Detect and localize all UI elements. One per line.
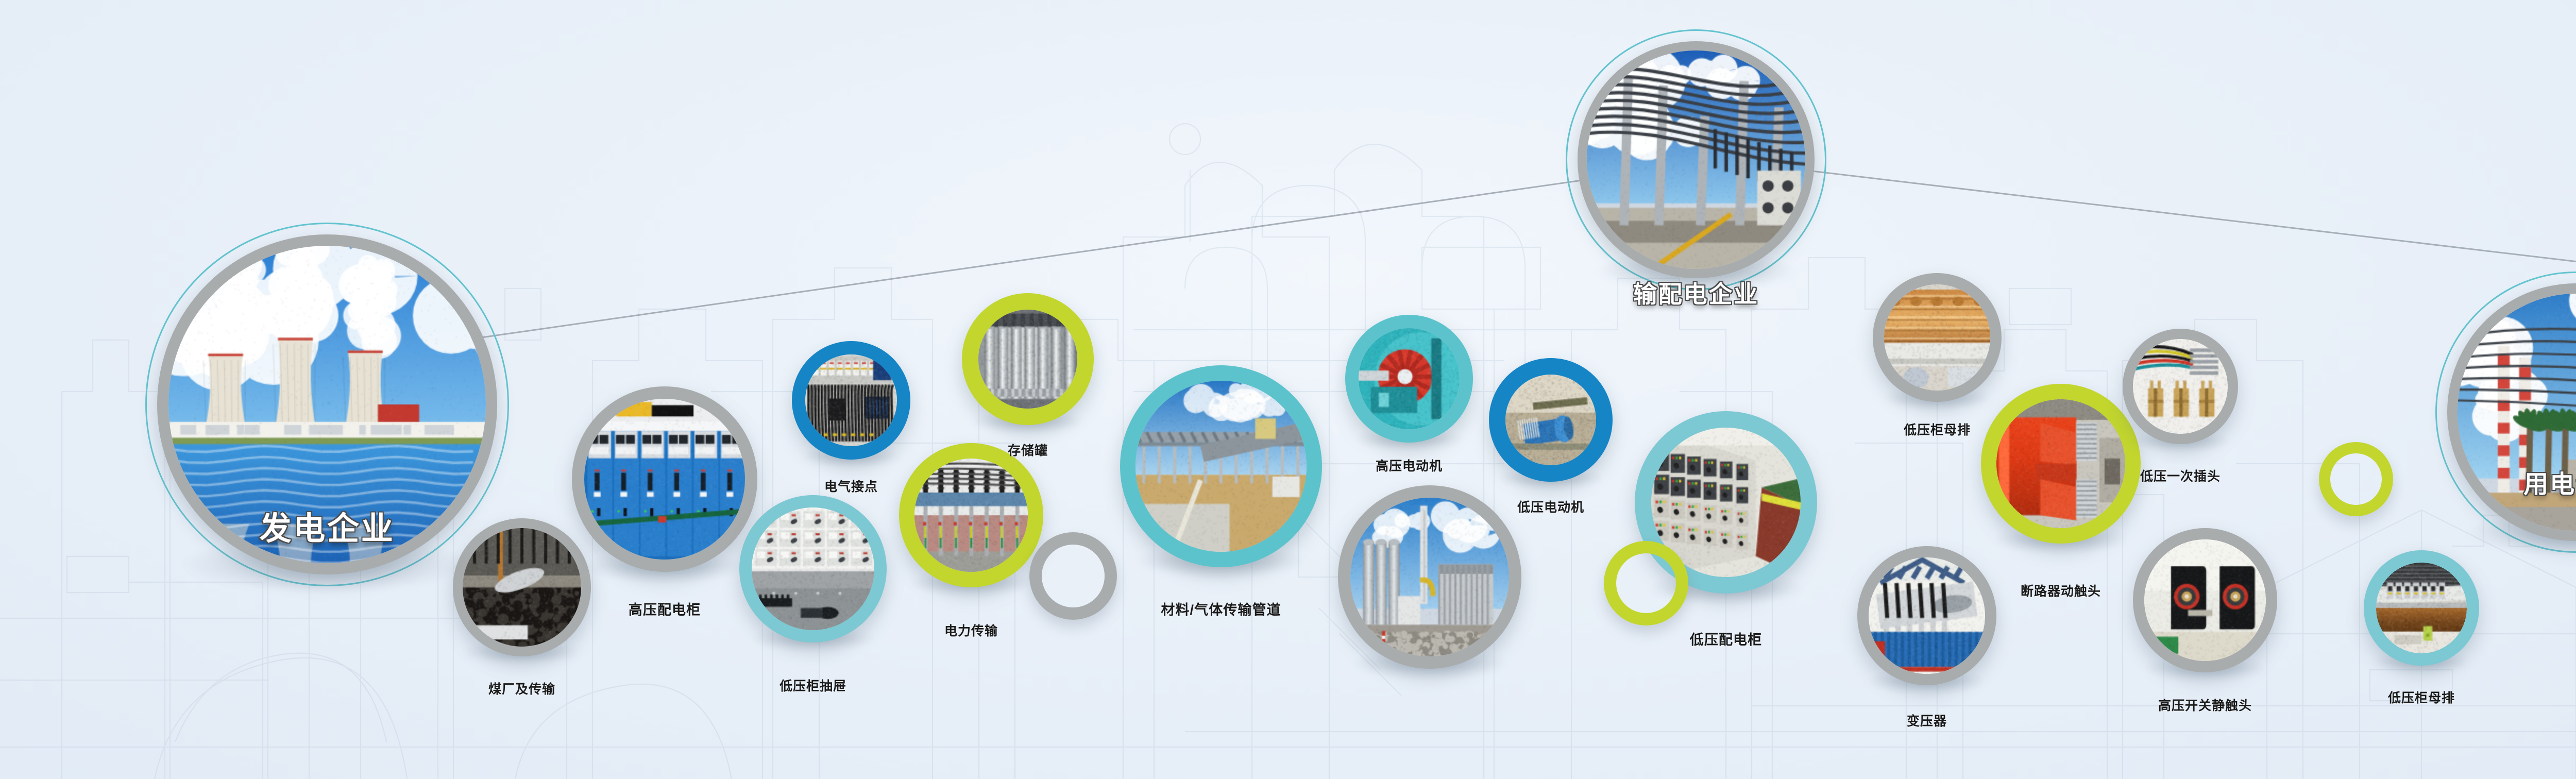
caption-material-gas-pipeline: 材料/气体传输管道 — [1161, 599, 1281, 619]
bubble-chimney-plant[interactable] — [1338, 485, 1521, 669]
caption-hv-switch-static-contact: 高压开关静触头 — [2158, 696, 2252, 714]
bubble-material-gas-pipeline[interactable] — [1120, 365, 1322, 567]
bubble-lv-cabinet-drawer[interactable] — [739, 495, 887, 642]
caption-coal-plant-transport: 煤厂及传输 — [488, 679, 555, 698]
ring-power-consumer — [2447, 283, 2576, 541]
photo-lv-primary-plug — [2133, 339, 2228, 434]
ring-hv-switch-static-contact — [2133, 528, 2277, 672]
photo-lv-cabinet-drawer — [752, 507, 874, 630]
ring-storage-tank — [962, 293, 1094, 425]
bubble-lv-motor[interactable] — [1489, 358, 1613, 482]
photo-transmission-distribution — [1587, 50, 1805, 269]
bubble-storage-tank[interactable] — [962, 293, 1094, 425]
ring-material-gas-pipeline — [1120, 365, 1322, 567]
caption-electrical-contact: 电气接点 — [824, 477, 878, 495]
photo-power-generation — [168, 246, 486, 563]
caption-storage-tank: 存储罐 — [1008, 441, 1048, 459]
bubble-lv-busbar-strip[interactable] — [2364, 550, 2479, 666]
bubble-transmission-distribution[interactable] — [1578, 41, 1815, 278]
caption-transformer: 变压器 — [1907, 711, 1947, 730]
photo-hv-switchgear-cabinet — [584, 399, 745, 560]
decorative-ring-hollow-grey-left — [1029, 532, 1117, 620]
photo-lv-busbar-copper — [1884, 284, 1990, 391]
caption-lv-busbar-copper: 低压柜母排 — [1904, 420, 1971, 438]
infographic-canvas: 煤厂及传输高压配电柜电气接点低压柜抽屉电力传输存储罐材料/气体传输管道高压电动机… — [0, 0, 2576, 779]
bubble-electrical-contact[interactable] — [792, 341, 910, 460]
bubble-hv-switch-static-contact[interactable] — [2133, 528, 2277, 672]
bubble-power-transmission[interactable] — [899, 443, 1043, 587]
photo-breaker-moving-contact — [1996, 399, 2125, 528]
caption-breaker-moving-contact: 断路器动触头 — [2021, 581, 2101, 600]
caption-hv-switchgear-cabinet: 高压配电柜 — [629, 599, 701, 619]
bubble-hv-switchgear-cabinet[interactable] — [572, 386, 757, 572]
photo-chimney-plant — [1350, 498, 1509, 656]
photo-power-consumer — [2458, 294, 2576, 531]
caption-hv-motor: 高压电动机 — [1376, 456, 1443, 475]
caption-lv-busbar-strip: 低压柜母排 — [2388, 688, 2455, 706]
ring-lv-cabinet-drawer — [739, 495, 887, 642]
ring-hv-motor — [1345, 315, 1473, 443]
bubble-breaker-moving-contact[interactable] — [1981, 384, 2141, 544]
ring-transmission-distribution — [1578, 41, 1815, 278]
caption-lv-primary-plug: 低压一次插头 — [2140, 466, 2221, 485]
photo-electrical-contact — [805, 354, 897, 446]
decorative-ring-hollow-green-right — [2319, 442, 2393, 516]
bubble-transformer[interactable] — [1857, 546, 1996, 685]
ring-lv-primary-plug — [2123, 329, 2238, 444]
ring-lv-busbar-copper — [1873, 273, 2002, 402]
caption-lv-motor: 低压电动机 — [1517, 497, 1584, 516]
photo-hv-switch-static-contact — [2144, 539, 2266, 661]
decorative-ring-hollow-green-mid — [1604, 541, 1688, 625]
photo-storage-tank — [978, 310, 1077, 409]
photo-hv-motor — [1359, 328, 1460, 429]
photo-transformer — [1869, 557, 1985, 674]
bubble-hv-motor[interactable] — [1345, 315, 1473, 443]
caption-lv-distribution-cabinet: 低压配电柜 — [1690, 629, 1762, 649]
caption-power-transmission: 电力传输 — [944, 621, 998, 639]
caption-lv-cabinet-drawer: 低压柜抽屉 — [779, 676, 846, 695]
photo-lv-motor — [1505, 375, 1596, 465]
photo-lv-busbar-strip — [2376, 563, 2467, 653]
ring-electrical-contact — [792, 341, 910, 460]
bubble-lv-busbar-copper[interactable] — [1873, 273, 2002, 402]
ring-lv-motor — [1489, 358, 1613, 482]
bubble-lv-primary-plug[interactable] — [2123, 329, 2238, 444]
bubble-power-consumer[interactable] — [2447, 283, 2576, 541]
ring-chimney-plant — [1338, 485, 1521, 669]
ring-power-transmission — [899, 443, 1043, 587]
ring-hv-switchgear-cabinet — [572, 386, 757, 572]
ring-breaker-moving-contact — [1981, 384, 2141, 544]
bubble-power-generation[interactable] — [157, 234, 497, 574]
photo-material-gas-pipeline — [1136, 381, 1307, 552]
ring-power-generation — [157, 234, 497, 574]
ring-transformer — [1857, 546, 1996, 685]
photo-power-transmission — [914, 459, 1028, 572]
ring-lv-busbar-strip — [2364, 550, 2479, 666]
